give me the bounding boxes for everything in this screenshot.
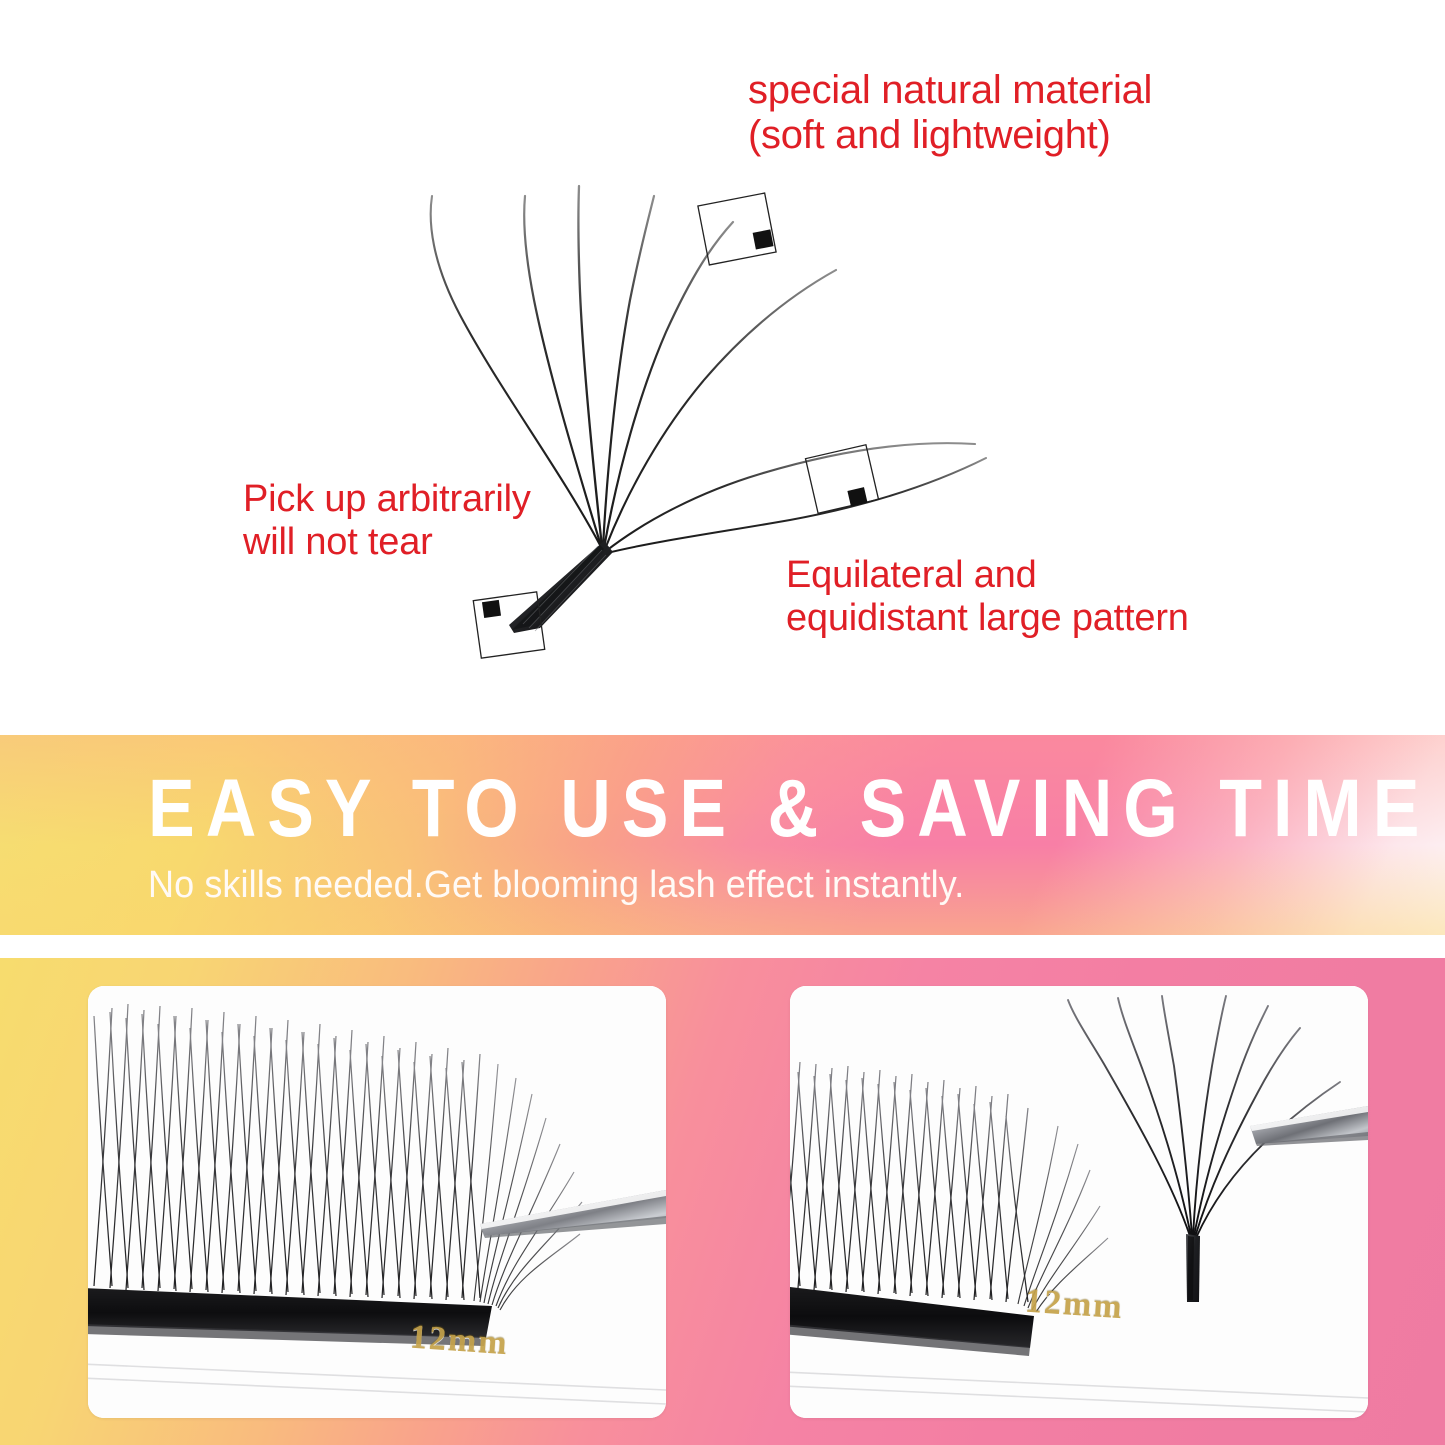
single-fan-photo-graphic bbox=[790, 986, 1368, 1418]
photo-panel-lash-strip: 12mm bbox=[88, 986, 666, 1418]
lash-fan-illustration bbox=[0, 0, 1445, 735]
lash-strip-photo-graphic bbox=[88, 986, 666, 1418]
callout-durability-text: Pick up arbitrarily will not tear bbox=[243, 478, 531, 563]
callout-pattern-text: Equilateral and equidistant large patter… bbox=[786, 554, 1189, 639]
marker-top-icon bbox=[698, 193, 776, 265]
photo-lash-strip-tweezers: 12mm bbox=[88, 986, 666, 1418]
size-label-left: 12mm bbox=[409, 1319, 510, 1364]
callout-material-text: special natural material (soft and light… bbox=[748, 68, 1152, 158]
fan-stem-right bbox=[1186, 1234, 1200, 1302]
size-label-right: 12mm bbox=[1024, 1283, 1125, 1328]
banner-subheadline: No skills needed.Get blooming lash effec… bbox=[148, 833, 1445, 907]
photo-panel-single-fan: 12mm bbox=[790, 986, 1368, 1418]
lash-fan-diagram-section: special natural material (soft and light… bbox=[0, 0, 1445, 735]
product-infographic-page: special natural material (soft and light… bbox=[0, 0, 1445, 1445]
banner-text-block: EASY TO USE & SAVING TIME No skills need… bbox=[0, 735, 1445, 903]
photo-single-fan-lifted: 12mm bbox=[790, 986, 1368, 1418]
banner-headline: EASY TO USE & SAVING TIME bbox=[148, 735, 1445, 849]
easy-to-use-banner: EASY TO USE & SAVING TIME No skills need… bbox=[0, 735, 1445, 935]
product-photo-row: 12mm bbox=[0, 958, 1445, 1445]
